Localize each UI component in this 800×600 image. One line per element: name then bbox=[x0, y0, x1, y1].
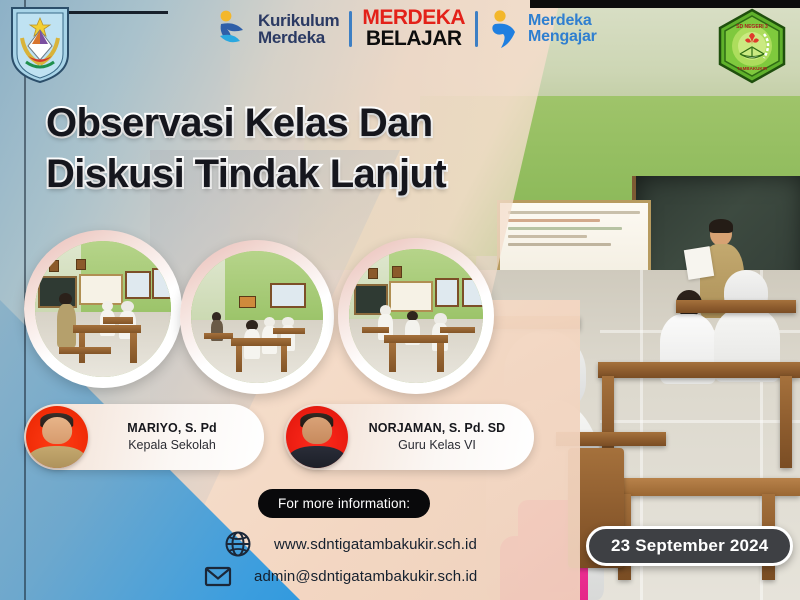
svg-text:SD NEGERI 3: SD NEGERI 3 bbox=[736, 24, 768, 30]
merdeka-mengajar-line2: Mengajar bbox=[528, 29, 597, 45]
poster-title-line2: Diskusi Tindak Lanjut bbox=[46, 149, 566, 200]
avatar-teacher bbox=[286, 406, 348, 468]
school-emblem-logo: SD NEGERI 3 TAMBAKUKIR bbox=[716, 8, 788, 84]
merdeka-belajar-line1: MERDEKA bbox=[362, 8, 465, 29]
province-emblem-logo bbox=[8, 4, 72, 84]
kurikulum-merdeka-logo: Kurikulum Merdeka bbox=[216, 9, 339, 49]
background-desk-5 bbox=[676, 300, 796, 313]
merdeka-mengajar-icon bbox=[488, 9, 522, 49]
background-desk-3 bbox=[780, 376, 792, 468]
email-text: admin@sdntigatambakukir.sch.id bbox=[254, 568, 477, 585]
website-text: www.sdntigatambakukir.sch.id bbox=[274, 536, 477, 553]
gallery-photo-1 bbox=[24, 230, 182, 388]
profile-card-principal[interactable]: MARIYO, S. Pd Kepala Sekolah bbox=[24, 404, 264, 470]
profile-name-principal: MARIYO, S. Pd bbox=[92, 420, 252, 437]
profile-role-teacher: Guru Kelas VI bbox=[352, 437, 522, 454]
avatar-principal bbox=[26, 406, 88, 468]
contact-row-email[interactable]: admin@sdntigatambakukir.sch.id bbox=[204, 562, 477, 590]
profile-card-teacher[interactable]: NORJAMAN, S. Pd. SD Guru Kelas VI bbox=[284, 404, 534, 470]
svg-text:TAMBAKUKIR: TAMBAKUKIR bbox=[737, 66, 768, 71]
poster-title-line1: Observasi Kelas Dan bbox=[46, 98, 566, 149]
contact-row-website[interactable]: www.sdntigatambakukir.sch.id bbox=[224, 530, 477, 558]
kurikulum-merdeka-line1: Kurikulum bbox=[258, 12, 339, 29]
merdeka-belajar-logo: MERDEKA BELAJAR bbox=[362, 8, 465, 49]
kurikulum-merdeka-icon bbox=[216, 9, 252, 49]
profile-role-principal: Kepala Sekolah bbox=[92, 437, 252, 454]
gallery-photo-3 bbox=[338, 238, 494, 394]
envelope-icon bbox=[204, 562, 232, 590]
globe-icon bbox=[224, 530, 252, 558]
kurikulum-merdeka-line2: Merdeka bbox=[258, 29, 339, 46]
event-date-badge: 23 September 2024 bbox=[586, 526, 793, 566]
more-information-pill: For more information: bbox=[258, 489, 430, 518]
merdeka-mengajar-logo: Merdeka Mengajar bbox=[488, 9, 597, 49]
logo-divider-1 bbox=[349, 11, 352, 47]
program-logos-strip: Kurikulum Merdeka MERDEKA BELAJAR Merdek… bbox=[216, 8, 597, 49]
merdeka-belajar-line2: BELAJAR bbox=[362, 29, 465, 50]
gallery-photo-2 bbox=[180, 240, 334, 394]
logo-divider-2 bbox=[475, 11, 478, 47]
top-dark-band bbox=[530, 0, 800, 8]
poster-title: Observasi Kelas Dan Diskusi Tindak Lanju… bbox=[46, 98, 566, 200]
poster-canvas: SD NEGERI 3 TAMBAKUKIR Kurikulum Merdeka… bbox=[0, 0, 800, 600]
merdeka-mengajar-line1: Merdeka bbox=[528, 13, 597, 29]
profile-name-teacher: NORJAMAN, S. Pd. SD bbox=[352, 420, 522, 437]
background-desk-1 bbox=[598, 362, 800, 378]
background-screen-content bbox=[508, 211, 640, 271]
